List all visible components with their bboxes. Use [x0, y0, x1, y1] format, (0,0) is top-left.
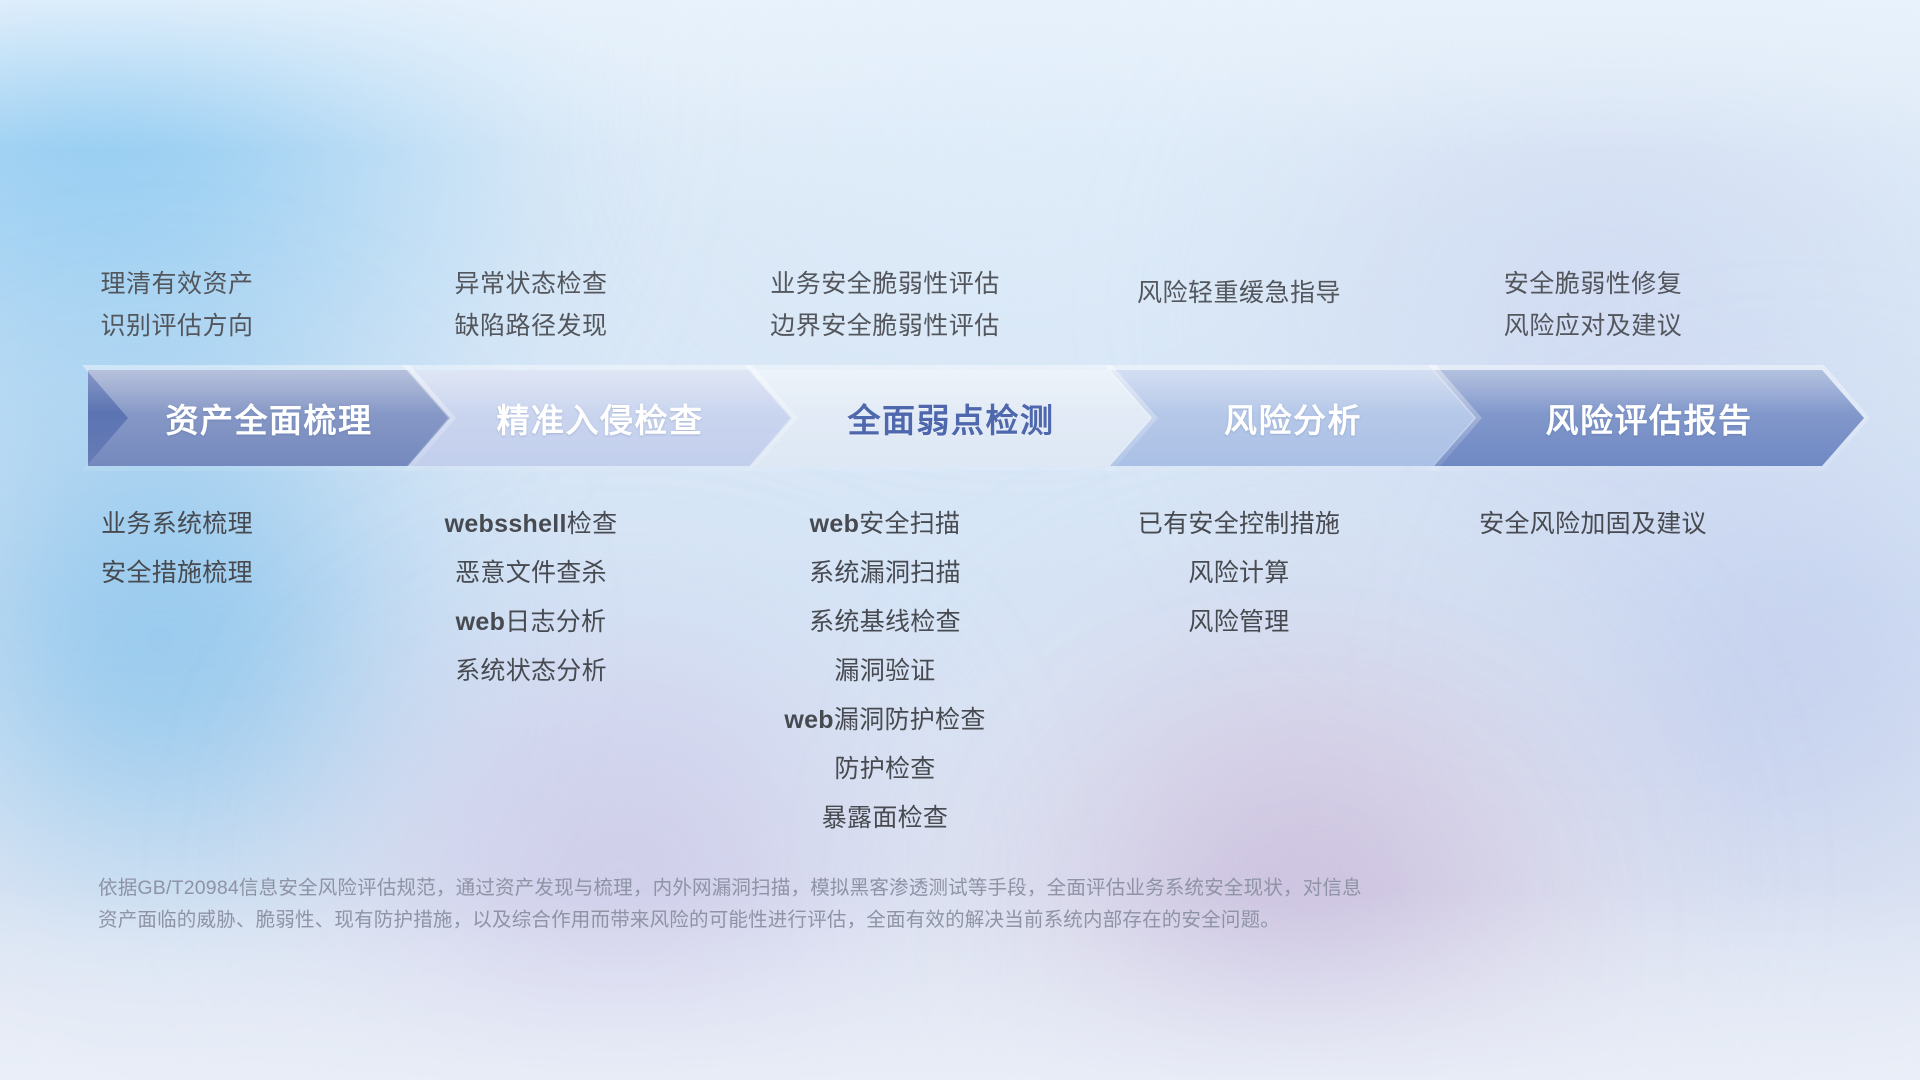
stage-activity-item: 风险计算 [1188, 549, 1289, 598]
stage-label: 全面弱点检测 [848, 394, 1055, 442]
stage-outputs-5: 安全脆弱性修复 风险应对及建议 [1416, 225, 1770, 340]
process-arrow-band: 资产全面梳理 精准入侵检查 全面弱点检测 风险分析 风险评估报告 [88, 370, 1864, 466]
stage-activities-2: websshell检查恶意文件查杀web日志分析系统状态分析 [354, 500, 708, 1080]
stage-output-line: 缺陷路径发现 [454, 313, 607, 341]
stage-output-line: 边界安全脆弱性评估 [770, 313, 1000, 341]
stage-output-line: 风险轻重缓急指导 [1137, 280, 1341, 308]
stage-activity-item: 漏洞验证 [834, 647, 935, 696]
stage-activity-item: web日志分析 [456, 598, 607, 647]
stage-output-line: 风险应对及建议 [1504, 313, 1683, 341]
stage-activities-4: 已有安全控制措施风险计算风险管理 [1062, 500, 1416, 1080]
stage-label: 风险评估报告 [1546, 394, 1753, 442]
stage-output-line: 理清有效资产 [100, 271, 253, 299]
stage-activity-item: 业务系统梳理 [101, 500, 253, 549]
stage-outputs-row: 理清有效资产 识别评估方向 异常状态检查 缺陷路径发现 业务安全脆弱性评估 边界… [0, 225, 1770, 340]
stage-label: 资产全面梳理 [166, 394, 373, 442]
stage-outputs-3: 业务安全脆弱性评估 边界安全脆弱性评估 [708, 225, 1062, 340]
footer-line-1: 依据GB/T20984信息安全风险评估规范，通过资产发现与梳理，内外网漏洞扫描，… [98, 872, 1618, 904]
stage-activity-item: 系统基线检查 [809, 598, 961, 647]
stage-activity-item: web安全扫描 [810, 500, 961, 549]
stage-label: 风险分析 [1224, 394, 1362, 442]
stage-output-line: 业务安全脆弱性评估 [770, 271, 1000, 299]
stage-activity-item: 暴露面检查 [822, 794, 949, 843]
stage-activities-row: 业务系统梳理安全措施梳理 websshell检查恶意文件查杀web日志分析系统状… [0, 500, 1770, 1080]
stage-activities-3: web安全扫描系统漏洞扫描系统基线检查漏洞验证web漏洞防护检查防护检查暴露面检… [708, 500, 1062, 1080]
stage-output-line: 识别评估方向 [100, 313, 253, 341]
stage-outputs-1: 理清有效资产 识别评估方向 [0, 225, 354, 340]
stage-activity-item: web漏洞防护检查 [784, 696, 985, 745]
stage-activity-item: 防护检查 [834, 745, 935, 794]
stage-activity-item: 安全风险加固及建议 [1479, 500, 1707, 549]
footer-line-2: 资产面临的威胁、脆弱性、现有防护措施，以及综合作用而带来风险的可能性进行评估，全… [98, 904, 1618, 936]
stage-activities-5: 安全风险加固及建议 [1416, 500, 1770, 1080]
stage-outputs-4: 风险轻重缓急指导 [1062, 225, 1416, 340]
stage-activity-item: 风险管理 [1188, 598, 1289, 647]
stage-activity-item: 安全措施梳理 [101, 549, 253, 598]
stage-output-line: 安全脆弱性修复 [1504, 271, 1683, 299]
stage-activity-item: 已有安全控制措施 [1138, 500, 1340, 549]
stage-label: 精准入侵检查 [497, 394, 704, 442]
stage-activity-item: 恶意文件查杀 [455, 549, 607, 598]
footer-description: 依据GB/T20984信息安全风险评估规范，通过资产发现与梳理，内外网漏洞扫描，… [98, 872, 1618, 936]
stage-output-line: 异常状态检查 [454, 271, 607, 299]
stage-outputs-2: 异常状态检查 缺陷路径发现 [354, 225, 708, 340]
stage-activities-1: 业务系统梳理安全措施梳理 [0, 500, 354, 1080]
stage-activity-item: 系统漏洞扫描 [809, 549, 961, 598]
stage-activity-item: 系统状态分析 [455, 647, 607, 696]
stage-activity-item: websshell检查 [445, 500, 618, 549]
